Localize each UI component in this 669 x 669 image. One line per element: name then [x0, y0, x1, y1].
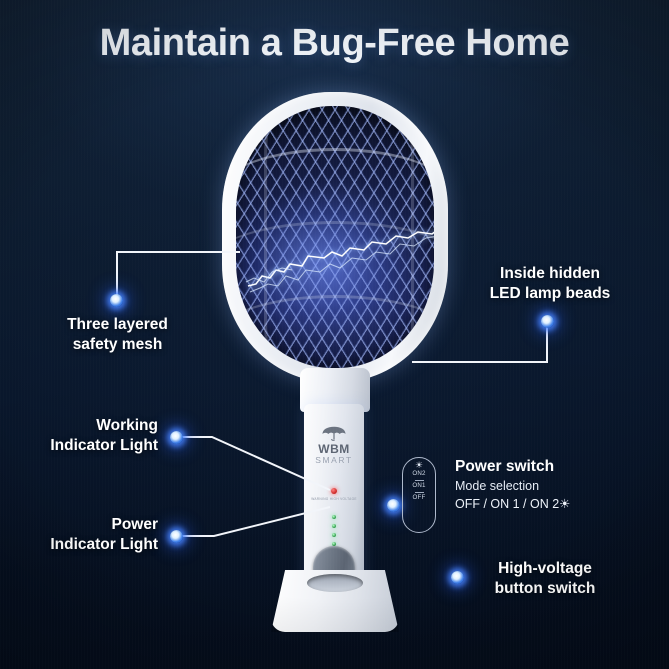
brand-name: WBM — [304, 443, 364, 455]
callout-label-high-voltage: High-voltage button switch — [455, 559, 635, 599]
racket-mesh-area — [236, 106, 434, 368]
callout-mesh-line1: Three layered — [30, 315, 205, 335]
callout-dot-power-indicator[interactable] — [170, 530, 183, 543]
callout-label-power-indicator: Power Indicator Light — [0, 515, 158, 555]
callout-label-mesh: Three layered safety mesh — [30, 315, 205, 355]
switch-position-on2: ON2 — [412, 471, 425, 477]
callout-led-line2: LED lamp beads — [460, 284, 640, 304]
callout-working-line1: Working — [0, 416, 158, 436]
charging-base — [271, 570, 399, 632]
callout-hv-line1: High-voltage — [455, 559, 635, 579]
led-bead — [332, 533, 336, 537]
callout-mesh-line2: safety mesh — [30, 335, 205, 355]
callout-dot-working-indicator[interactable] — [170, 431, 183, 444]
callout-led-line1: Inside hidden — [460, 264, 640, 284]
callout-label-working-indicator: Working Indicator Light — [0, 416, 158, 456]
power-switch-subtitle: Mode selection — [455, 479, 539, 493]
warning-micro-text: WARNING HIGH VOLTAGE — [304, 497, 364, 502]
brand-tagline: SMART — [304, 455, 364, 467]
callout-label-led: Inside hidden LED lamp beads — [460, 264, 640, 304]
callout-dot-led[interactable] — [541, 315, 554, 328]
power-indicator-led — [331, 488, 337, 494]
power-switch-title: Power switch — [455, 458, 554, 476]
callout-working-line2: Indicator Light — [0, 436, 158, 456]
callout-power-line2: Indicator Light — [0, 535, 158, 555]
callout-hv-line2: button switch — [455, 579, 635, 599]
led-bead — [332, 515, 336, 519]
switch-position-off: OFF — [413, 495, 426, 501]
switch-divider — [415, 480, 424, 481]
switch-divider — [415, 492, 424, 493]
electric-arc-icon — [246, 226, 434, 302]
base-slot — [307, 574, 363, 592]
callout-dot-mesh[interactable] — [110, 294, 123, 307]
switch-position-on1: ON1 — [412, 483, 425, 489]
brand-logo: WBM SMART — [304, 426, 364, 467]
power-switch-modes: OFF / ON 1 / ON 2☀ — [455, 496, 570, 511]
led-bead — [332, 524, 336, 528]
infographic-canvas: Maintain a Bug-Free Home — [0, 0, 669, 669]
callout-dot-power-switch[interactable] — [387, 499, 400, 512]
racket-handle: WBM SMART WARNING HIGH VOLTAGE — [304, 404, 364, 590]
lamp-icon: ☀ — [415, 461, 423, 470]
power-switch-diagram[interactable]: ☀ ON2 ON1 OFF — [402, 457, 436, 533]
racket-head-frame — [222, 92, 448, 382]
callout-power-line1: Power — [0, 515, 158, 535]
umbrella-icon — [321, 426, 347, 441]
